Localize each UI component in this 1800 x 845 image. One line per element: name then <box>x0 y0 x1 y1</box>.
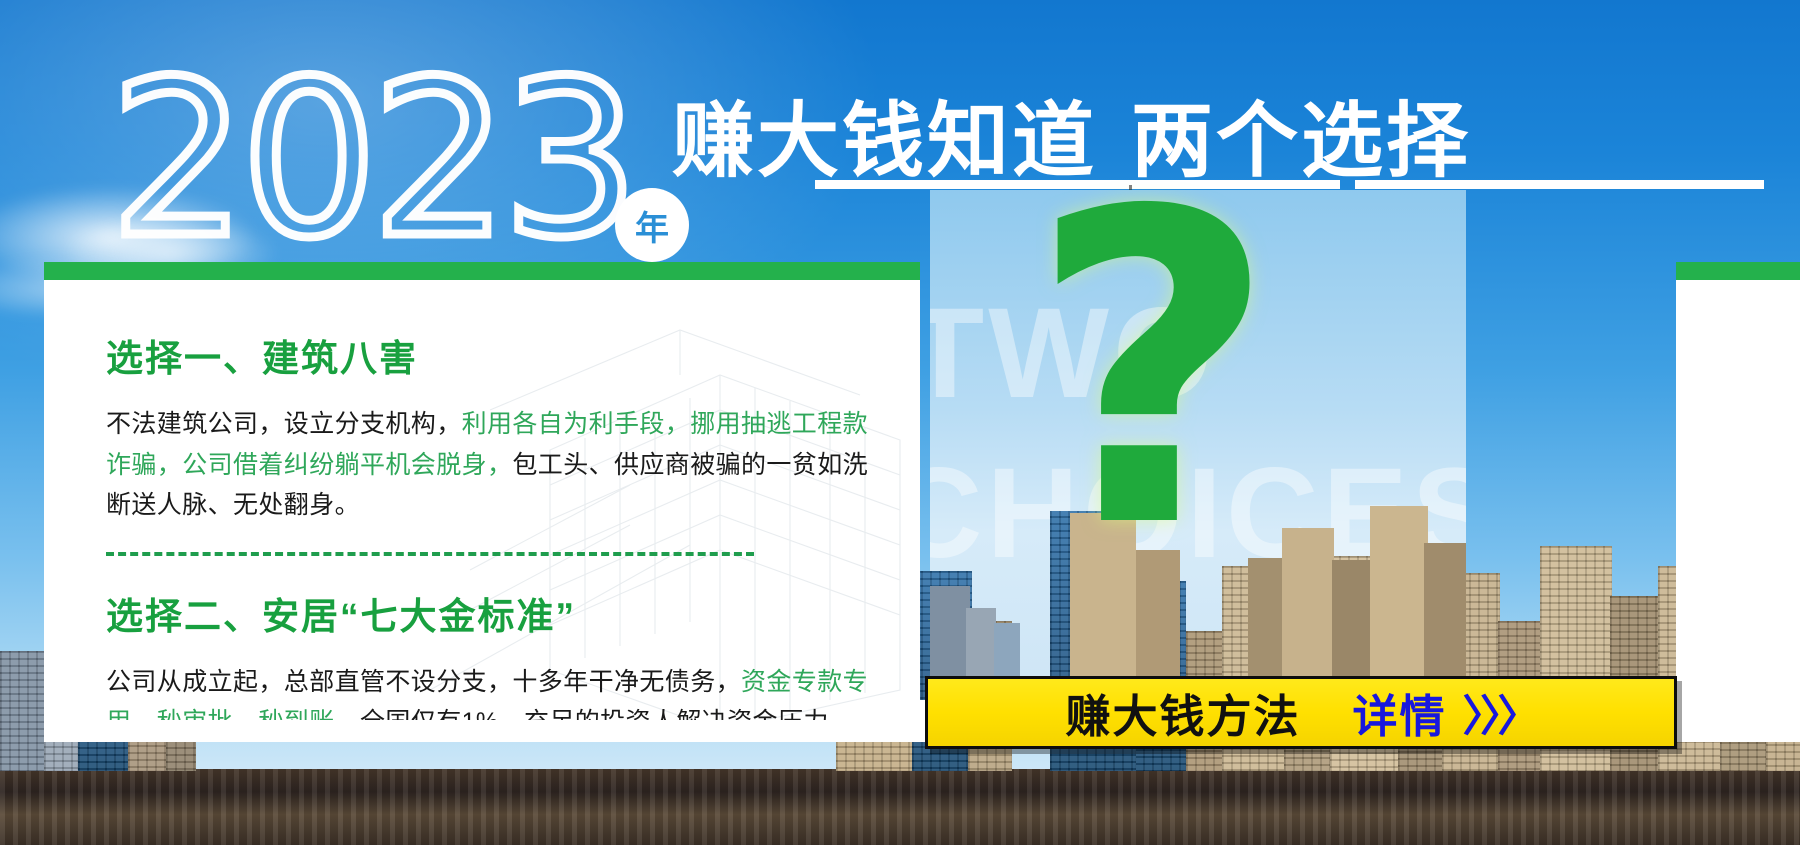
body-run: 全国仅有1%，充足的投资人解决资金压力。 <box>360 708 854 720</box>
headline-rule-right <box>1355 180 1764 189</box>
building-shape <box>0 651 46 771</box>
building-shape <box>930 586 970 678</box>
section-body: 公司从成立起，总部直管不设分支，十多年干净无债务，资金专款专用，秒审批、秒到账，… <box>106 662 878 721</box>
building-shape <box>966 608 996 678</box>
chevron-right-icon: 〉〉〉 <box>1463 682 1537 744</box>
cta-label-right: 详情 <box>1353 680 1447 745</box>
question-mark-icon: ? <box>1028 205 1277 540</box>
section-divider <box>106 552 754 556</box>
building-shape <box>1424 543 1466 678</box>
content-card: 选择一、建筑八害 不法建筑公司，设立分支机构，利用各自为利手段，挪用抽逃工程款诈… <box>44 280 920 720</box>
year-numerals: 2023 <box>110 52 633 267</box>
year-unit-badge: 年 <box>615 188 689 262</box>
green-bar-right <box>1676 262 1800 280</box>
cta-button[interactable]: 赚大钱方法 详情 〉〉〉 <box>925 676 1677 749</box>
card-section: 选择二、安居“七大金标准” 公司从成立起，总部直管不设分支，十多年干净无债务，资… <box>106 586 878 721</box>
cta-label-left: 赚大钱方法 <box>1065 680 1300 745</box>
section-title: 选择二、安居“七大金标准” <box>106 586 878 640</box>
body-run-accent: 诈骗，公司借着纠纷躺平机会脱身， <box>106 451 512 479</box>
body-run: 不法建筑公司，设立分支机构， <box>106 410 462 438</box>
poster-root: 2023 年 赚大钱知道两个选择 TWO CHOICES ? <box>0 0 1800 845</box>
green-bar-left <box>44 262 920 280</box>
section-body: 不法建筑公司，设立分支机构，利用各自为利手段，挪用抽逃工程款诈骗，公司借着纠纷躺… <box>106 404 878 526</box>
body-run: 包工头、供应商被骗的一贫如洗 <box>512 451 868 479</box>
building-shape <box>1332 560 1372 678</box>
right-white-column <box>1676 280 1800 700</box>
body-run: 公司从成立起，总部直管不设分支，十多年干净无债务， <box>106 668 741 696</box>
body-run-accent: 利用各自为利手段，挪用抽逃工程款 <box>462 410 868 438</box>
building-shape <box>1370 506 1428 678</box>
section-title: 选择一、建筑八害 <box>106 328 878 382</box>
card-section: 选择一、建筑八害 不法建筑公司，设立分支机构，利用各自为利手段，挪用抽逃工程款诈… <box>106 328 878 526</box>
building-shape <box>994 623 1020 678</box>
building-shape <box>1282 528 1334 678</box>
waterfront-strip <box>0 769 1800 845</box>
body-run: 断送人脉、无处翻身。 <box>106 491 360 519</box>
